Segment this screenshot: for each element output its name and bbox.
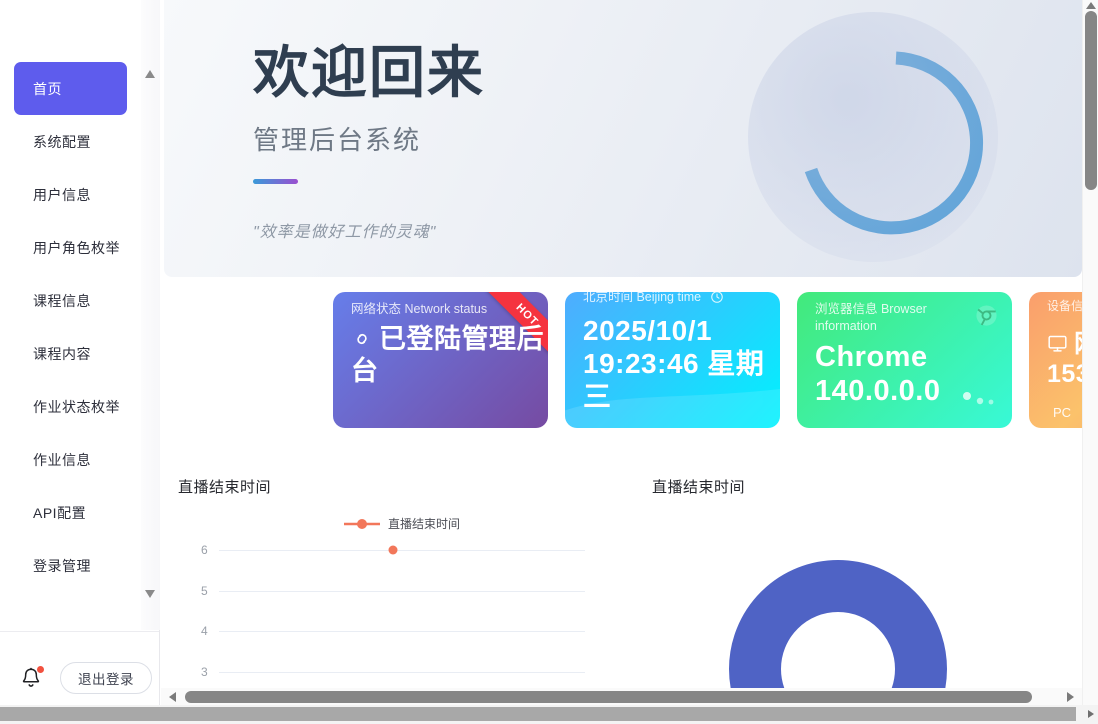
chart-title-donut: 直播结束时间	[652, 476, 745, 497]
sidebar-item-label: 系统配置	[33, 132, 91, 152]
chart-panel-line: 直播结束时间 直播结束时间 6543	[173, 458, 643, 688]
dots-decoration	[962, 392, 996, 406]
notification-bell-button[interactable]	[20, 666, 42, 690]
sidebar-item-6[interactable]: 作业状态枚举	[14, 380, 127, 433]
sidebar-item-label: 用户角色枚举	[33, 238, 120, 258]
sidebar-item-label: API配置	[33, 503, 86, 523]
logout-button[interactable]: 退出登录	[60, 662, 152, 694]
loading-ring-decoration	[748, 12, 998, 262]
card-browser-information-label: 浏览器信息 Browser information	[815, 301, 985, 335]
chart-ytick-label: 5	[201, 584, 208, 598]
sidebar-item-0[interactable]: 首页	[14, 62, 127, 115]
sidebar-item-1[interactable]: 系统配置	[14, 115, 127, 168]
welcome-subtitle: 管理后台系统	[253, 120, 485, 157]
page-scrollbar-vertical[interactable]	[1082, 0, 1098, 724]
sidebar-item-4[interactable]: 课程信息	[14, 274, 127, 327]
sidebar-item-label: 登录管理	[33, 556, 91, 576]
chart-legend-line-label: 直播结束时间	[388, 515, 460, 532]
page-scrollbar-horizontal[interactable]	[0, 705, 1098, 724]
page-scrollbar-horizontal-thumb[interactable]	[0, 707, 1076, 721]
sidebar: 首页系统配置用户信息用户角色枚举课程信息课程内容作业状态枚举作业信息API配置登…	[0, 0, 160, 724]
sidebar-item-3[interactable]: 用户角色枚举	[14, 221, 127, 274]
card-equipment-information-value: 网页分辨率 1536 × 864	[1047, 330, 1082, 389]
chart-gridline	[219, 672, 585, 673]
sidebar-item-label: 作业信息	[33, 450, 91, 470]
sidebar-item-2[interactable]: 用户信息	[14, 168, 127, 221]
wave-decoration	[565, 384, 780, 428]
chart-gridline	[219, 591, 585, 592]
sidebar-item-9[interactable]: 登录管理	[14, 539, 127, 592]
sidebar-item-label: 课程内容	[33, 344, 91, 364]
chart-gridline	[219, 631, 585, 632]
sidebar-item-7[interactable]: 作业信息	[14, 433, 127, 486]
main-scroll-area: 欢迎回来 管理后台系统 "效率是做好工作的灵魂" HOT 网络状态 Networ…	[161, 0, 1082, 688]
charts-row: 直播结束时间 直播结束时间 6543 直播结束时间	[161, 458, 1082, 688]
sidebar-item-label: 课程信息	[33, 291, 91, 311]
scroll-right-icon[interactable]	[1067, 692, 1074, 702]
sidebar-scrollbar-vertical[interactable]	[141, 0, 160, 630]
info-cards-row: HOT 网络状态 Network status 已登陆管理后台 北京时间 Bei…	[161, 292, 1082, 428]
chart-title-line: 直播结束时间	[178, 476, 271, 497]
page-scrollbar-vertical-thumb[interactable]	[1085, 11, 1097, 190]
welcome-title: 欢迎回来	[253, 42, 485, 104]
monitor-icon	[1047, 333, 1068, 354]
chart-ytick-label: 6	[201, 543, 208, 557]
sidebar-item-label: 作业状态枚举	[33, 397, 120, 417]
welcome-banner: 欢迎回来 管理后台系统 "效率是做好工作的灵魂"	[164, 0, 1082, 277]
link-icon	[351, 328, 373, 350]
sidebar-scroll-up-icon[interactable]	[145, 70, 155, 78]
ring-halo	[748, 12, 998, 262]
card-equipment-information-label: 设备信息 Equipment information	[1047, 298, 1082, 314]
welcome-quote: "效率是做好工作的灵魂"	[253, 218, 485, 242]
scroll-up-icon[interactable]	[1086, 2, 1096, 9]
welcome-banner-text: 欢迎回来 管理后台系统 "效率是做好工作的灵魂"	[253, 42, 485, 242]
chrome-icon	[975, 304, 998, 327]
chart-data-point[interactable]	[389, 546, 398, 555]
chart-panel-donut: 直播结束时间	[647, 458, 1082, 688]
content-scrollbar-horizontal[interactable]	[161, 688, 1082, 705]
chart-gridline	[219, 550, 585, 551]
scroll-right-corner-icon[interactable]	[1088, 710, 1094, 718]
card-browser-information[interactable]: 浏览器信息 Browser information Chrome 140.0.0…	[797, 292, 1012, 428]
chart-plot-donut	[729, 560, 947, 688]
card-beijing-time[interactable]: 北京时间 Beijing time 2025/10/1 19:23:46 星期三	[565, 292, 780, 428]
notification-unread-dot	[37, 666, 44, 673]
card-equipment-information-sub: PC	[1053, 405, 1071, 420]
card-network-status-label: 网络状态 Network status	[351, 301, 521, 318]
sidebar-item-5[interactable]: 课程内容	[14, 327, 127, 380]
sidebar-item-label: 首页	[33, 79, 62, 99]
card-network-status-text: 已登陆管理后台	[351, 324, 544, 386]
chart-ytick-label: 4	[201, 624, 208, 638]
content-scrollbar-horizontal-thumb[interactable]	[185, 691, 1032, 703]
sidebar-item-8[interactable]: API配置	[14, 486, 127, 539]
admin-dashboard: 首页系统配置用户信息用户角色枚举课程信息课程内容作业状态枚举作业信息API配置登…	[0, 0, 1098, 724]
clock-icon	[710, 292, 724, 304]
card-network-status-value: 已登陆管理后台	[351, 324, 548, 388]
chart-legend-line[interactable]: 直播结束时间	[343, 515, 460, 532]
sidebar-scroll-area: 首页系统配置用户信息用户角色枚举课程信息课程内容作业状态枚举作业信息API配置登…	[0, 0, 160, 630]
accent-divider	[253, 179, 298, 184]
card-equipment-information[interactable]: 设备信息 Equipment information 网页分辨率 1536 × …	[1029, 292, 1082, 428]
chart-ytick-label: 3	[201, 665, 208, 679]
sidebar-item-label: 用户信息	[33, 185, 91, 205]
sidebar-menu: 首页系统配置用户信息用户角色枚举课程信息课程内容作业状态枚举作业信息API配置登…	[0, 62, 141, 592]
legend-marker-icon	[343, 518, 381, 530]
card-beijing-time-label: 北京时间 Beijing time	[583, 292, 753, 306]
sidebar-scroll-down-icon[interactable]	[145, 590, 155, 598]
scroll-left-icon[interactable]	[169, 692, 176, 702]
logout-button-label: 退出登录	[78, 668, 134, 688]
main-content: 欢迎回来 管理后台系统 "效率是做好工作的灵魂" HOT 网络状态 Networ…	[161, 0, 1098, 724]
card-network-status[interactable]: HOT 网络状态 Network status 已登陆管理后台	[333, 292, 548, 428]
